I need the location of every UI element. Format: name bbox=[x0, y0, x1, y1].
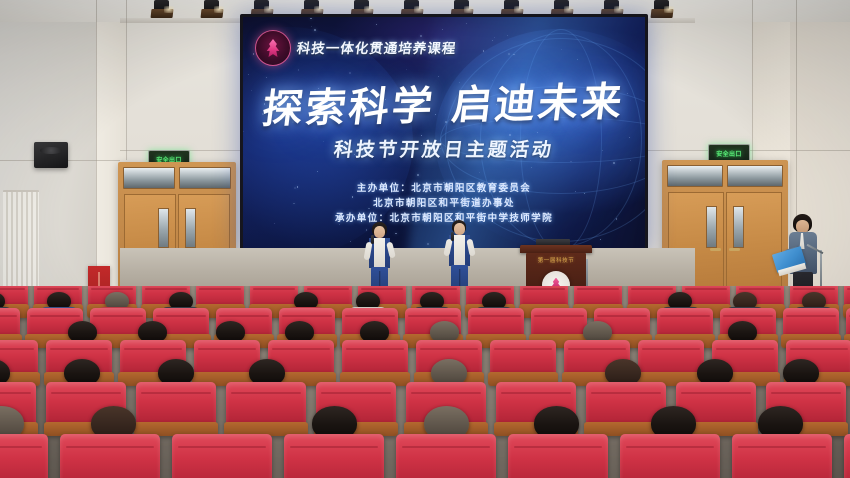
auditorium-seat[interactable] bbox=[196, 286, 244, 308]
stage-light bbox=[652, 0, 674, 20]
door-window bbox=[158, 208, 169, 248]
auditorium-seat[interactable] bbox=[508, 434, 608, 478]
door-handle[interactable] bbox=[729, 248, 740, 251]
screen-dot bbox=[417, 174, 419, 176]
auditorium-seat[interactable] bbox=[250, 286, 298, 308]
door-left-transom bbox=[123, 167, 231, 189]
auditorium-seat[interactable] bbox=[226, 382, 306, 426]
door-handle[interactable] bbox=[710, 248, 721, 251]
door-window bbox=[706, 206, 717, 248]
school-crest-icon bbox=[255, 30, 291, 66]
screen-dot bbox=[537, 132, 538, 133]
screen-dot bbox=[483, 50, 485, 52]
stage-light bbox=[152, 0, 174, 20]
auditorium-seat[interactable] bbox=[531, 308, 587, 338]
screen-dot bbox=[577, 59, 578, 60]
student-head bbox=[454, 223, 465, 235]
led-backdrop-screen: 科技一体化贯通培养课程 探索科学 启迪未来 科技节开放日主题活动 主办单位：北京… bbox=[240, 14, 648, 254]
auditorium-seat[interactable] bbox=[783, 308, 839, 338]
auditorium-seat[interactable] bbox=[732, 434, 832, 478]
screen-dot bbox=[508, 53, 510, 55]
wall-seam bbox=[126, 0, 127, 160]
exit-sign-right-label: 安全出口 bbox=[716, 149, 742, 158]
auditorium-seat[interactable] bbox=[520, 286, 568, 308]
auditorium-seat[interactable] bbox=[0, 434, 48, 478]
auditorium-seat[interactable] bbox=[620, 434, 720, 478]
screen-dot bbox=[613, 162, 615, 164]
screen-dot bbox=[479, 172, 480, 173]
audience-area bbox=[0, 286, 850, 478]
microphone-icon bbox=[451, 232, 454, 241]
door-window bbox=[733, 206, 744, 248]
screen-dot bbox=[317, 171, 318, 172]
screen-dot bbox=[427, 243, 429, 245]
screen-dot bbox=[350, 241, 351, 242]
podium-top bbox=[520, 245, 592, 253]
screen-dot bbox=[314, 29, 316, 31]
stage-light bbox=[202, 0, 224, 20]
student-head bbox=[374, 226, 385, 238]
screen-dot bbox=[253, 53, 255, 55]
auditorium-seat[interactable] bbox=[844, 286, 850, 308]
screen-dot bbox=[442, 29, 443, 30]
screen-main-title: 探索科学 启迪未来 bbox=[240, 69, 648, 135]
screen-dot bbox=[248, 74, 249, 75]
auditorium-seat[interactable] bbox=[284, 434, 384, 478]
wall-speaker-left bbox=[34, 142, 68, 168]
microphone-icon bbox=[371, 235, 374, 244]
screen-organizer-line-2: 北京市朝阳区和平街道办事处 bbox=[243, 195, 645, 209]
screen-organizer-line-1: 主办单位：北京市朝阳区教育委员会 bbox=[243, 180, 645, 194]
auditorium-seat[interactable] bbox=[60, 434, 160, 478]
podium-name-plate: 第一届科技节 bbox=[526, 256, 586, 264]
screen-dot bbox=[513, 54, 514, 55]
screen-dot bbox=[600, 239, 601, 240]
auditorium-seat[interactable] bbox=[172, 434, 272, 478]
auditorium-seat[interactable] bbox=[657, 308, 713, 338]
wall-seam bbox=[96, 0, 97, 300]
auditorium-seat[interactable] bbox=[342, 340, 408, 376]
door-right-transom bbox=[667, 165, 783, 187]
screen-kicker-text: 科技一体化贯通培养课程 bbox=[296, 37, 458, 57]
screen-dot bbox=[494, 37, 495, 38]
auditorium-seat[interactable] bbox=[136, 382, 216, 426]
crest-flame-glyph bbox=[266, 39, 281, 57]
screen-dot bbox=[561, 49, 562, 50]
screen-dot bbox=[339, 224, 340, 225]
auditorium-seat[interactable] bbox=[0, 308, 20, 338]
screen-dot bbox=[310, 18, 312, 20]
auditorium-scene: 安全出口 安全出口 bbox=[0, 0, 850, 478]
auditorium-seat[interactable] bbox=[396, 434, 496, 478]
screen-dot bbox=[466, 23, 467, 24]
screen-subtitle: 科技节开放日主题活动 bbox=[241, 135, 646, 162]
door-window bbox=[185, 208, 196, 248]
auditorium-seat[interactable] bbox=[468, 308, 524, 338]
screen-dot bbox=[507, 35, 508, 36]
door-right-leaf-right[interactable] bbox=[726, 192, 782, 289]
auditorium-seat[interactable] bbox=[638, 340, 704, 376]
auditorium-seat[interactable] bbox=[490, 340, 556, 376]
screen-dot bbox=[395, 233, 397, 235]
auditorium-seat[interactable] bbox=[844, 434, 850, 478]
screen-dot bbox=[298, 69, 299, 70]
auditorium-seat[interactable] bbox=[846, 308, 850, 338]
screen-dot bbox=[311, 26, 312, 27]
auditorium-seat[interactable] bbox=[574, 286, 622, 308]
screen-dot bbox=[406, 69, 407, 70]
screen-dot bbox=[531, 167, 532, 168]
screen-dot bbox=[492, 40, 493, 41]
screen-dot bbox=[376, 24, 377, 25]
screen-dot bbox=[349, 72, 351, 74]
